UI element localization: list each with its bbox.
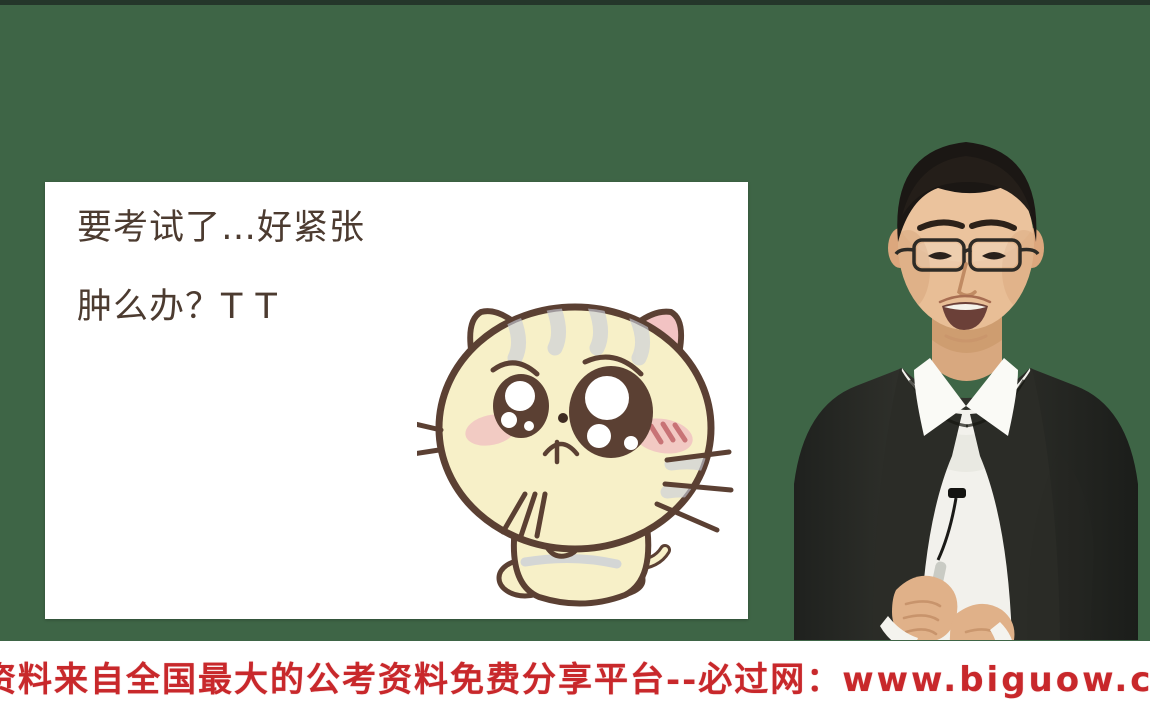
- instructor-video-overlay: [790, 92, 1150, 640]
- crying-cat-icon: [417, 278, 737, 608]
- presentation-slide: 要考试了…好紧张 肿么办？T T: [45, 182, 748, 619]
- slide-text-line-1: 要考试了…好紧张: [77, 210, 497, 247]
- banner-bottom-edge: [0, 715, 1150, 719]
- top-edge-strip: [0, 0, 1150, 5]
- scrolling-watermark-banner: 资料来自全国最大的公考资料免费分享平台--必过网：www.biguow.c: [0, 641, 1150, 719]
- banner-message: 资料来自全国最大的公考资料免费分享平台--必过网：: [0, 663, 842, 697]
- video-frame: 要考试了…好紧张 肿么办？T T: [0, 0, 1150, 719]
- banner-url: www.biguow.c: [842, 663, 1150, 697]
- banner-text-track: 资料来自全国最大的公考资料免费分享平台--必过网：www.biguow.c: [0, 663, 1150, 697]
